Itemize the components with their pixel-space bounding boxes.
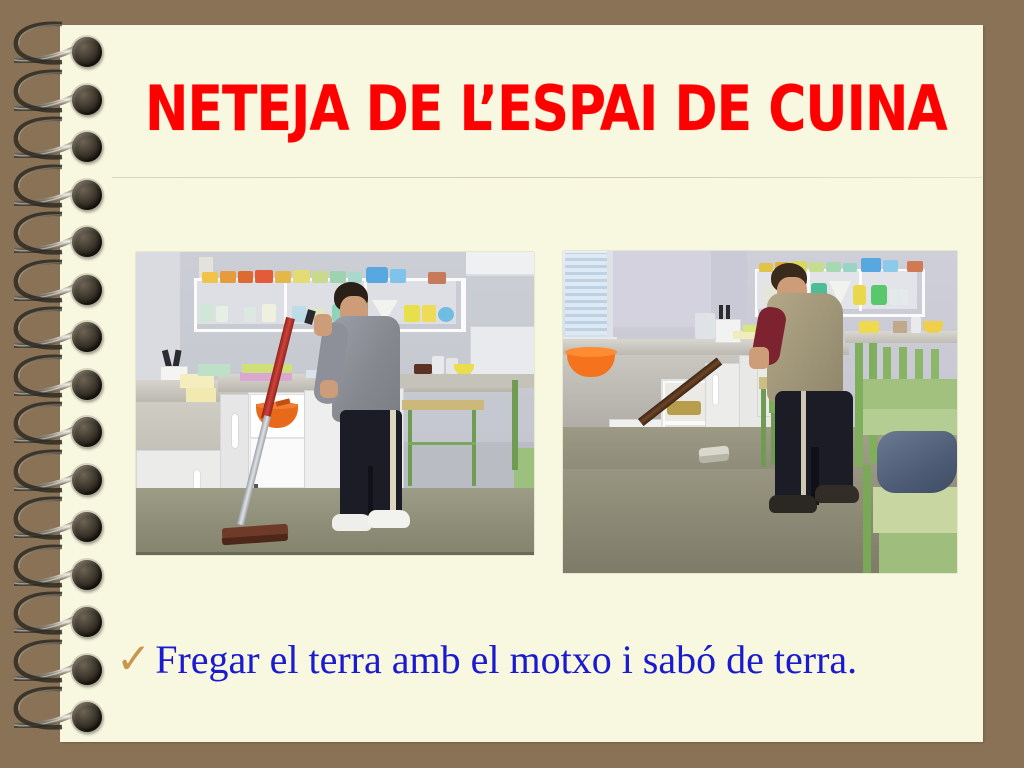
container <box>366 267 388 283</box>
container <box>843 263 857 272</box>
chair-frame <box>855 343 863 467</box>
bullet-text: Fregar el terra amb el motxo i sabó de t… <box>155 637 857 683</box>
person-shoe <box>769 495 817 513</box>
spiral-outer-loop <box>10 18 66 68</box>
spiral-outer-loop <box>10 208 66 258</box>
desk-leg <box>761 389 766 467</box>
container <box>216 306 228 322</box>
person-shoe <box>332 514 372 531</box>
chair-seat <box>863 379 957 409</box>
spiral-outer-loop <box>10 446 66 496</box>
container <box>244 307 256 322</box>
container <box>907 261 923 272</box>
title-divider <box>112 177 982 178</box>
spiral-outer-loop <box>10 113 66 163</box>
cloth <box>186 388 216 402</box>
container <box>200 304 213 322</box>
photo-left-scene <box>136 252 534 555</box>
desk-top <box>402 400 484 410</box>
container <box>871 285 887 305</box>
container <box>293 270 310 283</box>
spiral-outer-loop <box>10 351 66 401</box>
container <box>826 262 841 272</box>
container <box>312 271 328 283</box>
person-hand <box>320 380 338 398</box>
container <box>330 271 346 283</box>
bowl <box>923 321 943 333</box>
container <box>859 321 879 333</box>
spiral-outer-loop <box>10 66 66 116</box>
spiral-outer-loop <box>10 636 66 686</box>
container <box>809 262 824 272</box>
photo-mopping-kitchen-floor <box>136 252 534 555</box>
desk-brace <box>408 442 476 445</box>
person-hand <box>749 347 769 369</box>
chair-frame <box>512 380 518 470</box>
pants-stripe <box>390 410 396 518</box>
container <box>759 263 773 272</box>
container <box>899 289 908 305</box>
container <box>238 271 253 283</box>
container <box>883 260 898 272</box>
floor-edge <box>136 552 534 555</box>
container <box>255 270 273 283</box>
container <box>422 305 436 322</box>
chair-seat <box>879 533 957 573</box>
person-shoe <box>368 510 410 528</box>
spiral-outer-loop <box>10 588 66 638</box>
check-icon: ✓ <box>116 637 151 681</box>
container <box>390 269 406 283</box>
pants-stripe <box>801 391 806 501</box>
container <box>262 304 276 322</box>
container <box>889 289 898 305</box>
floor-shadow <box>563 427 803 469</box>
container <box>275 271 291 283</box>
container <box>853 285 866 305</box>
spiral-outer-loop <box>10 493 66 543</box>
spiral-outer-loop <box>10 683 66 733</box>
slide-canvas: NETEJA DE L’ESPAI DE CUINA <box>0 0 1024 768</box>
container <box>428 272 446 284</box>
cloth <box>180 374 214 388</box>
spiral-outer-loop <box>10 161 66 211</box>
photo-right-scene <box>563 251 957 573</box>
spiral-outer-loop <box>10 541 66 591</box>
chair-seat <box>873 487 957 533</box>
blue-jacket <box>877 431 957 493</box>
cabinet-handle <box>713 375 718 405</box>
spiral-outer-loop <box>10 256 66 306</box>
desk-leg <box>472 410 476 486</box>
desk-leg <box>408 410 412 486</box>
tray <box>198 364 230 376</box>
person-hand <box>314 314 332 336</box>
bullet-row: ✓ Fregar el terra amb el motxo i sabó de… <box>116 637 976 683</box>
chair-leg <box>863 465 871 573</box>
orange-basin-rim <box>565 347 617 357</box>
upper-cabinet <box>466 252 534 276</box>
container <box>438 307 454 322</box>
container <box>861 258 881 272</box>
window-blinds <box>565 253 607 335</box>
spiral-outer-loop <box>10 303 66 353</box>
container <box>404 305 420 322</box>
tray <box>240 372 292 381</box>
container <box>202 272 218 283</box>
spiral-outer-loop <box>10 398 66 448</box>
glass <box>911 317 921 333</box>
container <box>695 313 715 339</box>
container <box>893 321 907 333</box>
notebook-page: NETEJA DE L’ESPAI DE CUINA <box>60 25 983 742</box>
jar <box>414 364 432 374</box>
photo-sweeping-classroom-floor <box>563 251 957 573</box>
container <box>220 271 236 283</box>
person-shoe <box>815 485 859 503</box>
cabinet-handle <box>232 414 238 448</box>
page-title: NETEJA DE L’ESPAI DE CUINA <box>145 73 889 145</box>
glass <box>432 356 444 374</box>
tray <box>242 364 292 373</box>
